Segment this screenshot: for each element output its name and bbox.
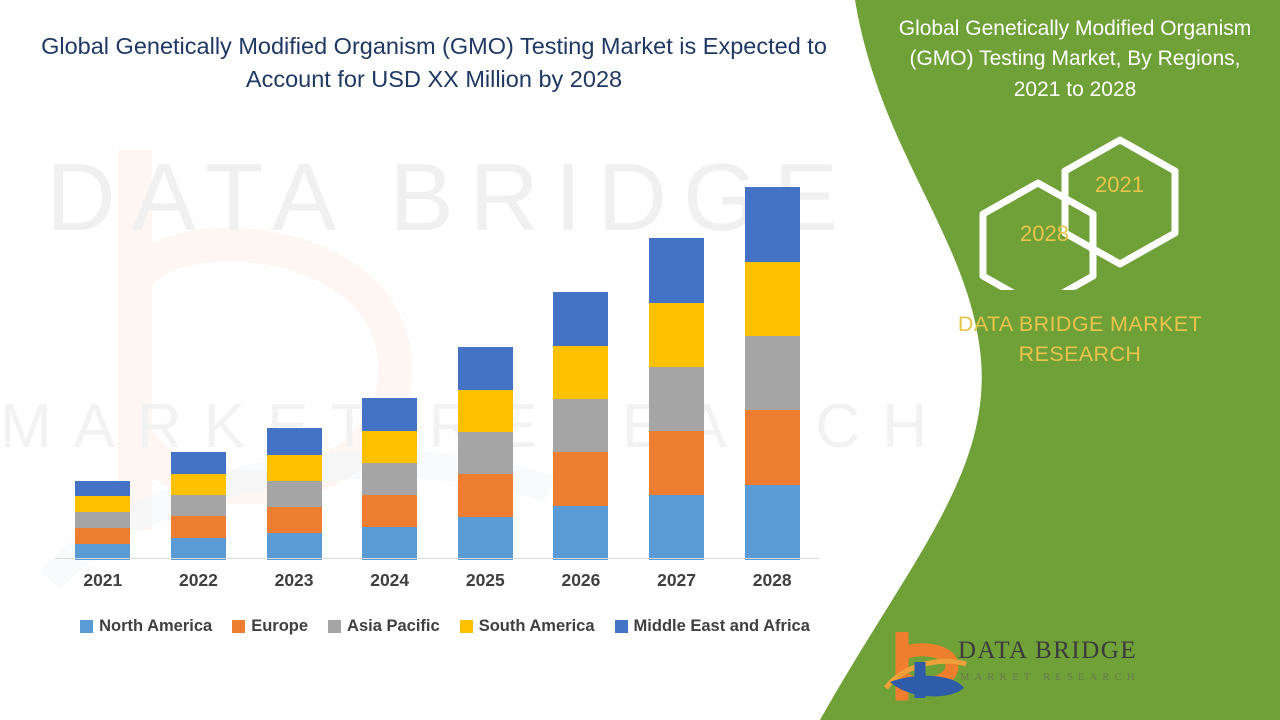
legend-swatch <box>232 620 245 633</box>
x-axis-label: 2027 <box>629 570 725 591</box>
hexagon-badges <box>970 135 1220 290</box>
stacked-bar[interactable] <box>458 347 513 560</box>
bar-segment[interactable] <box>362 495 417 527</box>
stacked-bar[interactable] <box>649 238 704 560</box>
bar-segment[interactable] <box>267 481 322 507</box>
hexagon-2021-shape <box>1065 140 1175 264</box>
legend-label: Europe <box>251 617 308 636</box>
bar-segment[interactable] <box>745 336 800 410</box>
bar-segment[interactable] <box>267 455 322 481</box>
hexagon-2021-label: 2021 <box>1095 172 1144 198</box>
infographic-page: DATA BRIDGE MARKET RESEARCH Global Genet… <box>0 0 1280 720</box>
logo-subtitle: MARKET RESEARCH <box>960 672 1140 683</box>
bar-group <box>342 398 438 560</box>
stacked-bar[interactable] <box>267 428 322 560</box>
bar-segment[interactable] <box>362 431 417 463</box>
legend-swatch <box>80 620 93 633</box>
bar-segment[interactable] <box>553 399 608 452</box>
bar-segment[interactable] <box>75 528 130 544</box>
legend-label: Asia Pacific <box>347 617 440 636</box>
bar-segment[interactable] <box>171 474 226 495</box>
legend-item[interactable]: Asia Pacific <box>328 617 440 636</box>
legend-swatch <box>460 620 473 633</box>
stacked-bar[interactable] <box>171 452 226 560</box>
bar-segment[interactable] <box>171 452 226 474</box>
bar-segment[interactable] <box>649 238 704 303</box>
bar-segment[interactable] <box>458 390 513 432</box>
bar-segment[interactable] <box>171 538 226 560</box>
green-side-panel: Global Genetically Modified Organism (GM… <box>820 0 1280 720</box>
bar-segment[interactable] <box>362 398 417 431</box>
bar-segment[interactable] <box>458 474 513 517</box>
legend-item[interactable]: North America <box>80 617 212 636</box>
bar-segment[interactable] <box>75 496 130 512</box>
legend-item[interactable]: South America <box>460 617 595 636</box>
bar-segment[interactable] <box>745 187 800 262</box>
bar-group <box>438 347 534 560</box>
bar-segment[interactable] <box>171 516 226 538</box>
chart-panel: DATA BRIDGE MARKET RESEARCH Global Genet… <box>0 0 900 720</box>
bar-group <box>55 481 151 560</box>
legend-swatch <box>328 620 341 633</box>
green-panel-content: Global Genetically Modified Organism (GM… <box>820 0 1280 720</box>
bar-segment[interactable] <box>745 485 800 560</box>
chart-title: Global Genetically Modified Organism (GM… <box>34 30 834 97</box>
bar-segment[interactable] <box>458 432 513 474</box>
bar-segment[interactable] <box>745 410 800 485</box>
x-axis-label: 2026 <box>533 570 629 591</box>
legend-label: Middle East and Africa <box>634 617 810 636</box>
stacked-bar[interactable] <box>745 187 800 560</box>
bar-segment[interactable] <box>649 367 704 431</box>
bar-segment[interactable] <box>171 495 226 516</box>
bar-group <box>533 292 629 560</box>
hexagon-2028-label: 2028 <box>1020 221 1069 247</box>
x-axis-line <box>55 558 820 559</box>
bar-segment[interactable] <box>458 517 513 560</box>
bar-segment[interactable] <box>649 303 704 367</box>
bar-series-container <box>55 162 820 560</box>
legend-item[interactable]: Middle East and Africa <box>615 617 810 636</box>
bar-segment[interactable] <box>553 506 608 560</box>
x-axis-label: 2025 <box>438 570 534 591</box>
bar-segment[interactable] <box>267 507 322 533</box>
bar-segment[interactable] <box>267 533 322 560</box>
stacked-bar[interactable] <box>75 481 130 560</box>
bar-group <box>629 238 725 560</box>
bar-segment[interactable] <box>75 481 130 496</box>
bar-segment[interactable] <box>75 512 130 528</box>
x-axis-label: 2028 <box>724 570 820 591</box>
bar-segment[interactable] <box>458 347 513 390</box>
bar-chart-plot <box>55 160 820 560</box>
panel-title: Global Genetically Modified Organism (GM… <box>895 14 1255 105</box>
x-axis-label: 2024 <box>342 570 438 591</box>
x-axis-labels: 20212022202320242025202620272028 <box>55 570 820 591</box>
chart-legend: North AmericaEuropeAsia PacificSouth Ame… <box>50 617 840 636</box>
x-axis-label: 2022 <box>151 570 247 591</box>
bar-segment[interactable] <box>362 527 417 560</box>
bar-group <box>724 187 820 560</box>
stacked-bar[interactable] <box>553 292 608 560</box>
legend-swatch <box>615 620 628 633</box>
legend-label: South America <box>479 617 595 636</box>
x-axis-label: 2023 <box>246 570 342 591</box>
bar-segment[interactable] <box>553 292 608 346</box>
bar-segment[interactable] <box>553 346 608 399</box>
bar-segment[interactable] <box>745 262 800 336</box>
x-axis-label: 2021 <box>55 570 151 591</box>
bar-group <box>151 452 247 560</box>
bar-segment[interactable] <box>553 452 608 506</box>
bar-segment[interactable] <box>649 431 704 495</box>
bar-group <box>246 428 342 560</box>
brand-name: DATA BRIDGE MARKET RESEARCH <box>910 310 1250 369</box>
stacked-bar[interactable] <box>362 398 417 560</box>
logo-wordmark: DATA BRIDGE <box>958 637 1137 665</box>
bar-segment[interactable] <box>267 428 322 455</box>
bar-segment[interactable] <box>362 463 417 495</box>
legend-label: North America <box>99 617 212 636</box>
bar-segment[interactable] <box>649 495 704 560</box>
legend-item[interactable]: Europe <box>232 617 308 636</box>
